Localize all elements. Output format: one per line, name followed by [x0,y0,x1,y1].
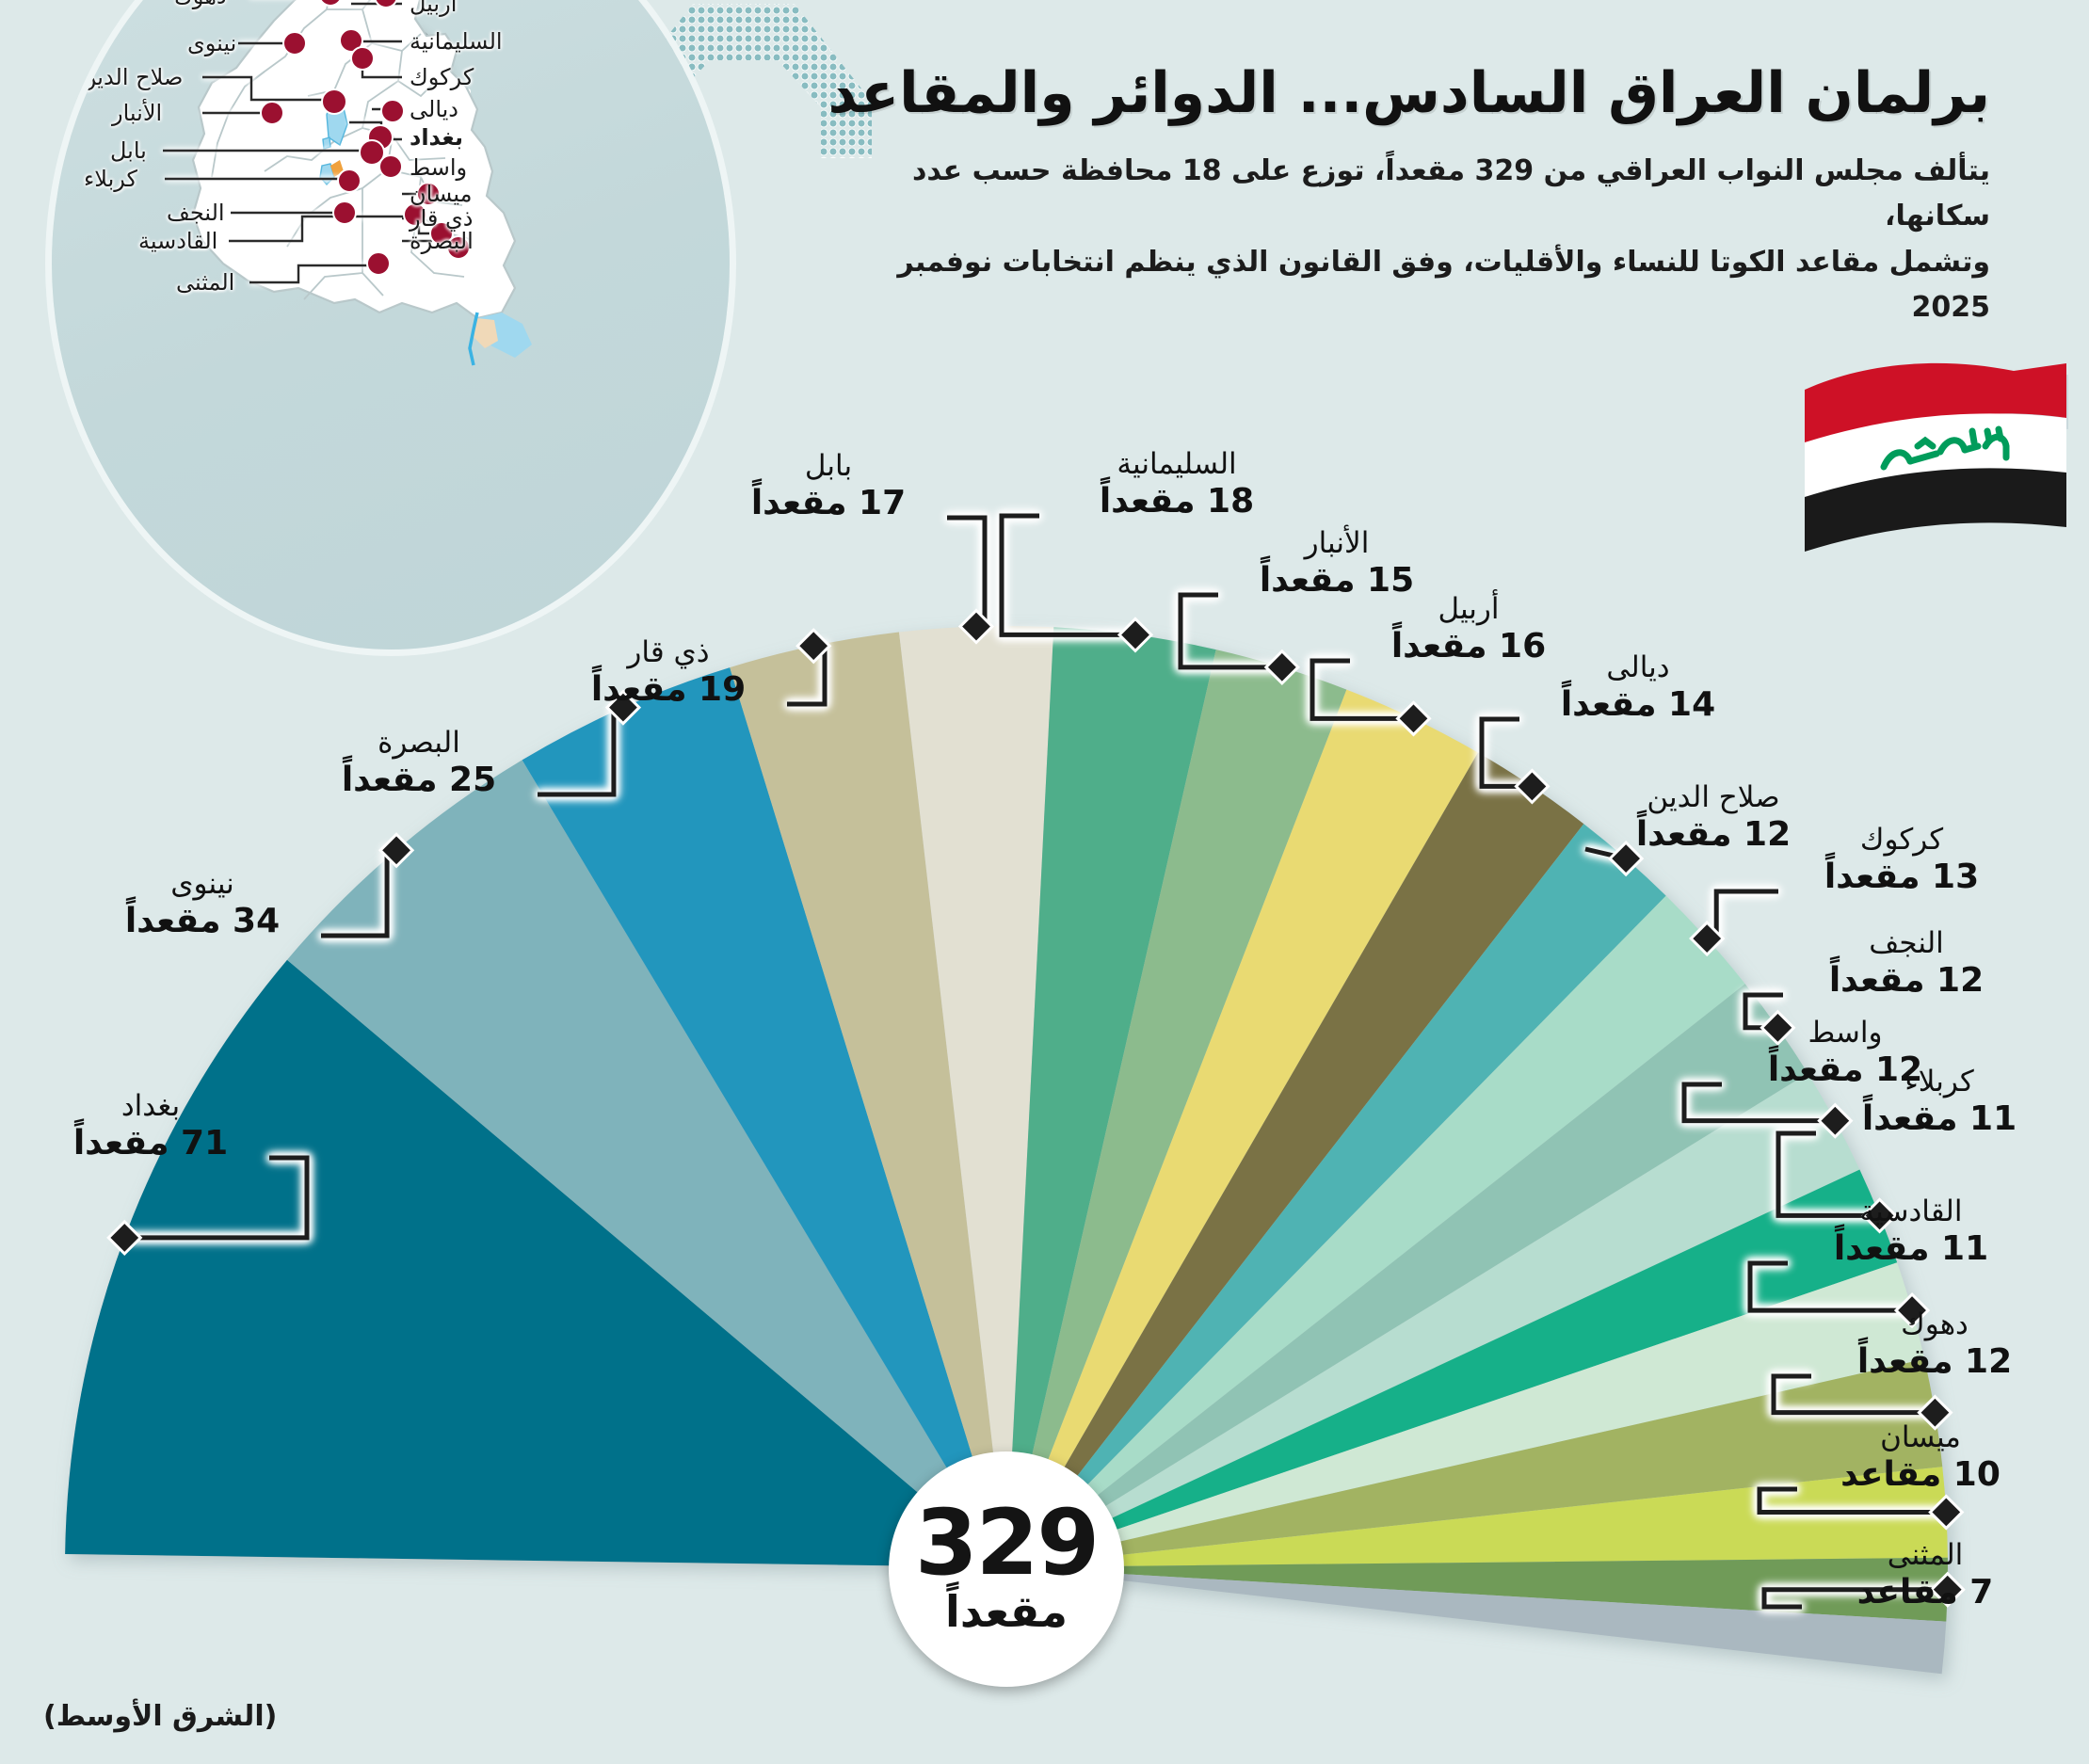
callout-value-diyala: 14 مقعداً [1525,686,1751,724]
callout-name-qadisiyah: القادسية [1793,1195,2029,1228]
callout-basra: البصرة25 مقعداً [306,727,532,799]
callout-najaf: النجف12 مقعداً [1789,927,2024,1000]
callout-value-muthanna: 7 مقاعد [1808,1574,2043,1612]
callout-sulaymaniyah: السليمانية18 مقعداً [1045,448,1309,521]
callout-diyala: ديالى14 مقعداً [1525,651,1751,724]
callout-name-muthanna: المثنى [1808,1539,2043,1572]
callout-qadisiyah: القادسية11 مقعداً [1793,1195,2029,1268]
callout-maysan: ميسان10 مقاعد [1803,1421,2038,1494]
callout-name-basra: البصرة [306,727,532,760]
callout-anbar: الأنبار15 مقعداً [1224,527,1450,600]
callout-name-duhok: دهوك [1817,1308,2052,1341]
callout-value-qadisiyah: 11 مقعداً [1793,1230,2029,1268]
callout-leader-babil [947,518,985,627]
callout-value-baghdad: 71 مقعداً [38,1125,264,1163]
callout-name-maysan: ميسان [1803,1421,2038,1454]
callout-name-anbar: الأنبار [1224,527,1450,560]
callout-value-sulaymaniyah: 18 مقعداً [1045,483,1309,521]
callout-value-maysan: 10 مقاعد [1803,1456,2038,1494]
total-seats-value: 329 [915,1501,1098,1584]
callout-value-duhok: 12 مقعداً [1817,1343,2052,1381]
callout-name-nineveh: نينوى [89,868,315,901]
callout-kirkuk: كركوك13 مقعداً [1784,824,2019,896]
total-seats-badge: 329 مقعداً [889,1451,1124,1687]
callout-name-karbala: كربلاء [1822,1066,2057,1098]
callout-baghdad: بغداد71 مقعداً [38,1090,264,1163]
infographic-canvas: دهوك نينوى صلاح الدين الأنبار بابل كربلا… [0,0,2089,1764]
callout-name-erbil: أربيل [1356,593,1582,626]
callout-duhok: دهوك12 مقعداً [1817,1308,2052,1381]
callout-name-dhiqar: ذي قار [555,636,781,669]
callout-leader-sulaymaniyah [1002,516,1135,634]
callout-name-babil: بابل [715,450,941,483]
callout-name-baghdad: بغداد [38,1090,264,1123]
callout-nineveh: نينوى34 مقعداً [89,868,315,940]
total-seats-unit: مقعداً [945,1586,1068,1637]
callout-name-kirkuk: كركوك [1784,824,2019,857]
callout-value-karbala: 11 مقعداً [1822,1100,2057,1138]
callout-name-diyala: ديالى [1525,651,1751,684]
callout-karbala: كربلاء11 مقعداً [1822,1066,2057,1138]
callout-value-basra: 25 مقعداً [306,762,532,799]
callout-value-dhiqar: 19 مقعداً [555,671,781,709]
callout-name-salahaddin: صلاح الدين [1591,781,1836,814]
callout-muthanna: المثنى7 مقاعد [1808,1539,2043,1612]
callout-name-najaf: النجف [1789,927,2024,960]
callout-babil: بابل17 مقعداً [715,450,941,522]
callout-value-babil: 17 مقعداً [715,485,941,522]
callout-value-najaf: 12 مقعداً [1789,962,2024,1000]
callout-name-sulaymaniyah: السليمانية [1045,448,1309,481]
callout-name-wasit: واسط [1727,1017,1963,1050]
callout-value-kirkuk: 13 مقعداً [1784,858,2019,896]
callout-dhiqar: ذي قار19 مقعداً [555,636,781,709]
callout-value-nineveh: 34 مقعداً [89,903,315,940]
source-attribution: (الشرق الأوسط) [43,1700,277,1733]
